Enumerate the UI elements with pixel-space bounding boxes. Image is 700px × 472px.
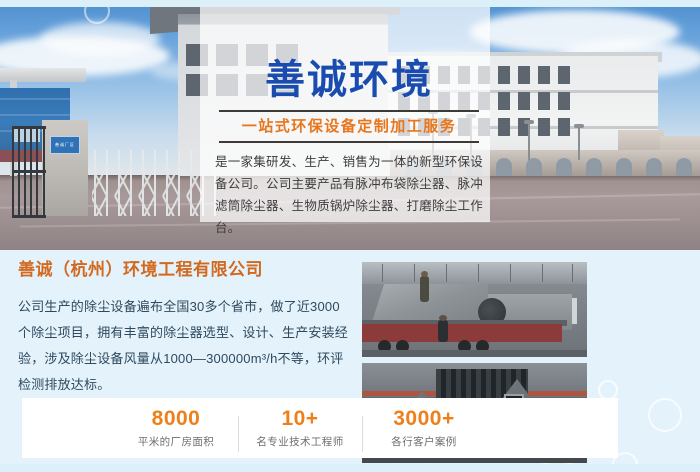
hero-title: 善诚环境	[213, 60, 485, 100]
top-accent-band	[0, 0, 700, 7]
hero-section: 善诚厂区	[0, 0, 700, 250]
company-name: 善诚（杭州）环境工程有限公司	[18, 260, 348, 280]
stat-number: 3000+	[362, 407, 486, 431]
company-info-block: 善诚（杭州）环境工程有限公司 公司生产的除尘设备遍布全国30多个省市，做了近30…	[18, 260, 348, 398]
stat-number: 8000	[114, 407, 238, 431]
stats-bar: 8000 平米的厂房面积 10+ 名专业技术工程师 3000+ 各行客户案例	[22, 398, 618, 458]
stat-item: 3000+ 各行客户案例	[362, 407, 486, 449]
light-pole	[528, 122, 530, 160]
stat-item: 8000 平米的厂房面积	[114, 407, 238, 449]
lamp-head	[524, 120, 534, 124]
stat-number: 10+	[238, 407, 362, 431]
company-description: 公司生产的除尘设备遍布全国30多个省市，做了近3000个除尘项目，拥有丰富的除尘…	[18, 294, 348, 398]
stat-label: 名专业技术工程师	[238, 434, 362, 449]
factory-name-sign: 善诚厂区	[50, 136, 80, 154]
light-pole	[578, 126, 580, 160]
promo-banner: 善诚厂区	[0, 0, 700, 472]
gate-pillar	[42, 120, 88, 216]
stat-label: 各行客户案例	[362, 434, 486, 449]
factory-sign-text: 善诚厂区	[51, 137, 79, 153]
stat-item: 10+ 名专业技术工程师	[238, 407, 362, 449]
dust-collector-unit-on-truck-photo	[362, 262, 587, 357]
bubble-decoration	[598, 380, 618, 400]
hero-description: 是一家集研发、生产、销售为一体的新型环保设备公司。公司主要产品有脉冲布袋除尘器、…	[213, 152, 485, 240]
hero-text-block: 善诚环境 一站式环保设备定制加工服务 是一家集研发、生产、销售为一体的新型环保设…	[213, 0, 485, 240]
cloud	[40, 22, 160, 56]
divider-bottom	[219, 141, 479, 143]
entrance-gate	[12, 126, 46, 218]
hero-subtitle: 一站式环保设备定制加工服务	[213, 112, 485, 141]
lamp-head	[574, 124, 584, 128]
bottom-accent-band	[0, 464, 700, 472]
stat-label: 平米的厂房面积	[114, 434, 238, 449]
bubble-decoration	[648, 398, 682, 432]
